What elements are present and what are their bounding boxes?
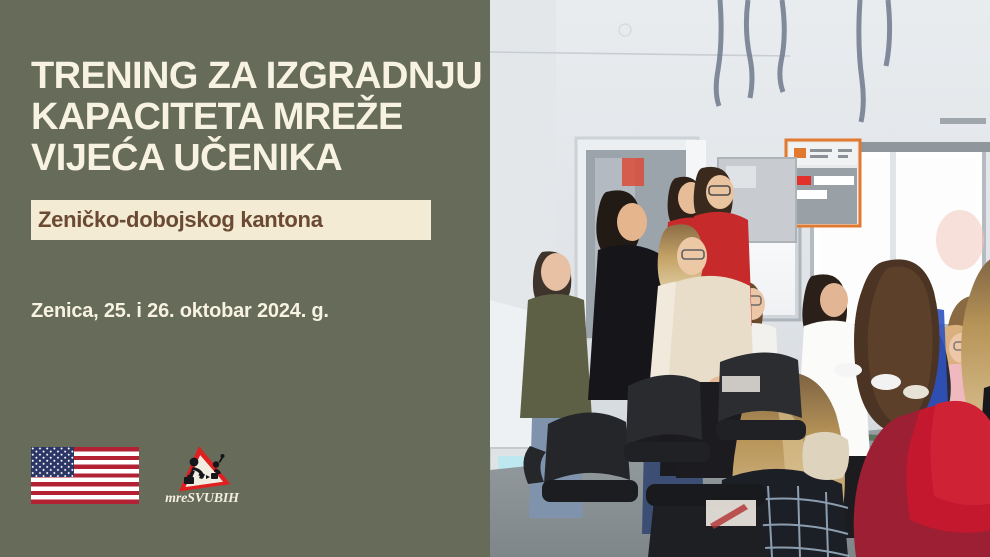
subtitle-text: Zeničko-dobojskog kantona xyxy=(31,207,323,233)
poster-image: TRENING ZA IZGRADNJU KAPACITETA MREŽE VI… xyxy=(0,0,990,557)
warning-triangle-icon xyxy=(165,442,239,492)
subtitle-highlight-box: Zeničko-dobojskog kantona xyxy=(31,200,431,240)
mresvubih-wordmark: mreSVUBIH xyxy=(165,491,239,507)
wall-poster xyxy=(786,140,860,226)
page-title: TRENING ZA IZGRADNJU KAPACITETA MREŽE VI… xyxy=(31,56,481,179)
logo-row: mreSVUBIH xyxy=(31,440,239,510)
title-line-1: TRENING ZA IZGRADNJU xyxy=(31,56,481,97)
title-line-3: VIJEĆA UČENIKA xyxy=(31,138,481,179)
flag-stars xyxy=(31,447,74,478)
us-flag-icon xyxy=(31,447,139,504)
event-photo-illustration xyxy=(490,0,990,557)
title-line-2: KAPACITETA MREŽE xyxy=(31,97,481,138)
mresvubih-logo: mreSVUBIH xyxy=(165,442,239,508)
event-date-location: Zenica, 25. i 26. oktobar 2024. g. xyxy=(31,300,329,323)
event-photo xyxy=(490,0,990,557)
left-text-panel: TRENING ZA IZGRADNJU KAPACITETA MREŽE VI… xyxy=(0,0,490,557)
flag-canton xyxy=(31,447,74,478)
